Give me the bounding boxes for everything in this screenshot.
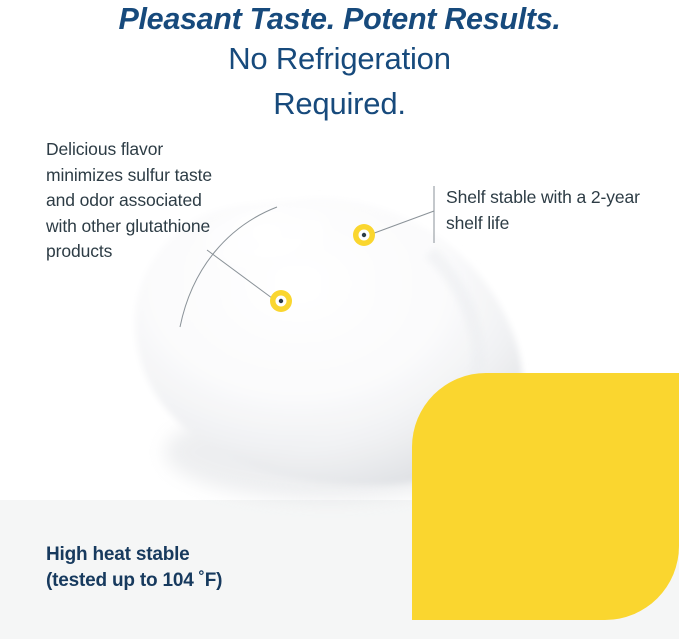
- bottom-caption-line-1: High heat stable: [46, 542, 376, 568]
- bottom-caption-line-2: (tested up to 104 ˚F): [46, 568, 376, 594]
- callout-dot-left[interactable]: [270, 290, 292, 312]
- right-callout-leader: [369, 211, 434, 235]
- bottom-caption: High heat stable (tested up to 104 ˚F): [46, 542, 376, 594]
- callout-text-shelf-life: Shelf stable with a 2-year shelf life: [446, 185, 661, 236]
- callout-dot-right[interactable]: [353, 224, 375, 246]
- infographic-page: Pleasant Taste. Potent Results. No Refri…: [0, 0, 679, 639]
- callout-text-flavor: Delicious flavor minimizes sulfur taste …: [46, 137, 221, 265]
